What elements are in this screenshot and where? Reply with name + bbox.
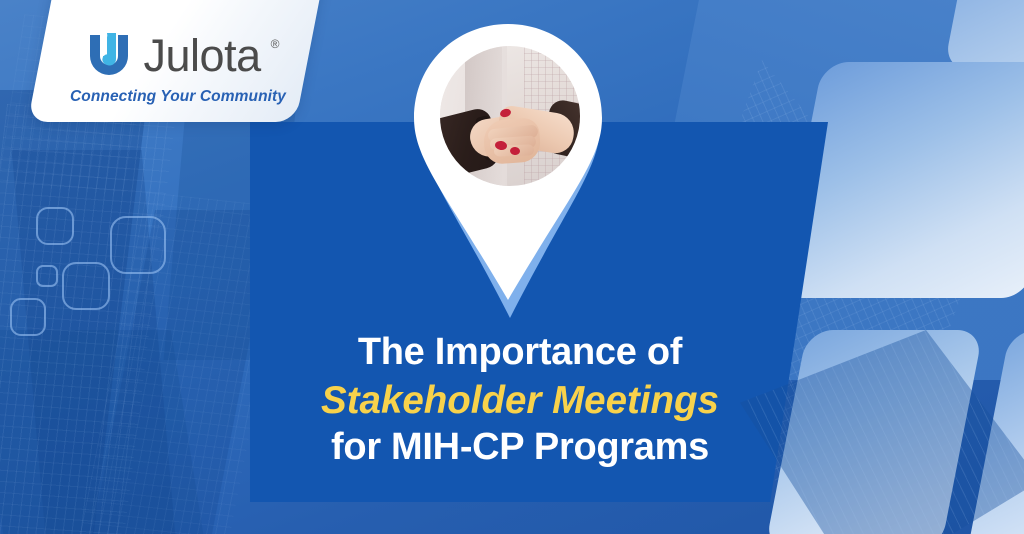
decor-tile — [944, 0, 1024, 70]
hero-banner: Julota ® Connecting Your Community The I… — [0, 0, 1024, 534]
logo-tagline: Connecting Your Community — [70, 88, 286, 106]
logo-lockup[interactable]: Julota ® Connecting Your Community — [44, 0, 312, 122]
logo-row: Julota ® — [83, 29, 280, 81]
registered-mark: ® — [271, 37, 280, 51]
decor-rounded-square — [36, 265, 58, 287]
logo-wordmark: Julota — [144, 33, 261, 78]
julota-j-in-u-icon — [83, 29, 135, 81]
headline-line-3: for MIH-CP Programs — [250, 425, 790, 470]
headline-line-2-accent: Stakeholder Meetings — [250, 378, 790, 423]
decor-rounded-square — [62, 262, 110, 310]
decor-rounded-square — [110, 216, 166, 274]
decor-rounded-square — [36, 207, 74, 245]
headline-line-1: The Importance of — [250, 330, 790, 375]
handshake-photo — [440, 46, 580, 186]
decor-rounded-square — [10, 298, 46, 336]
headline: The Importance of Stakeholder Meetings f… — [250, 330, 790, 470]
map-pin-graphic — [404, 18, 616, 330]
